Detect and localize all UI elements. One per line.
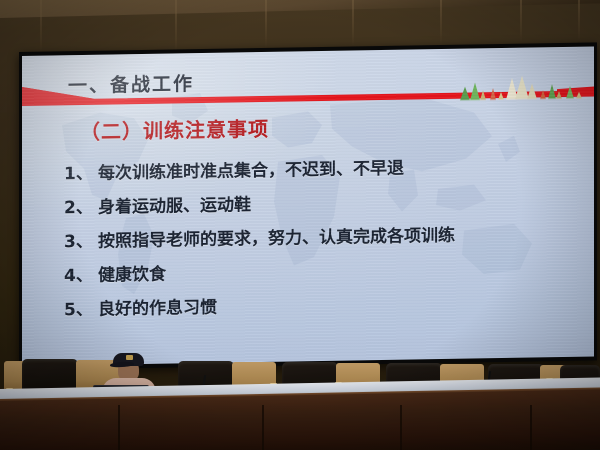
projection-screen-bezel: 一、备战工作 （二）训练注意事项 1、 每次训练准时准点集合，不迟到、不早退 2…: [19, 42, 597, 370]
pine-trees-graphic: [452, 73, 587, 103]
list-item: 3、 按照指导老师的要求，努力、认真完成各项训练: [64, 219, 584, 253]
list-item: 5、 良好的作息习惯: [64, 287, 584, 321]
slide-title: 一、备战工作: [68, 69, 194, 98]
wall-panel-seam: [352, 0, 354, 50]
wall-panel-seam: [40, 0, 42, 58]
bullet-text: 良好的作息习惯: [98, 293, 217, 320]
list-item: 4、 健康饮食: [64, 253, 584, 287]
desk-panel-seam: [262, 405, 264, 450]
desk-panel-seam: [400, 405, 402, 450]
bullet-number: 5、: [64, 295, 98, 321]
cap-logo: [126, 355, 133, 360]
wall-panel-seam: [440, 0, 442, 48]
desk-front-panel: [0, 389, 600, 450]
bullet-text: 健康饮食: [98, 260, 166, 286]
bullet-number: 1、: [64, 159, 98, 185]
bullet-text: 每次训练准时准点集合，不迟到、不早退: [98, 154, 404, 184]
bullet-number: 2、: [64, 193, 98, 219]
ceiling-trim: [0, 0, 600, 18]
wall-panel-seam: [578, 0, 580, 44]
projection-screen: 一、备战工作 （二）训练注意事项 1、 每次训练准时准点集合，不迟到、不早退 2…: [22, 46, 594, 365]
list-item: 2、 身着运动服、运动鞋: [64, 185, 584, 219]
wall-panel-seam: [520, 0, 522, 46]
desk-panel-seam: [118, 405, 120, 450]
slide-bullet-list: 1、 每次训练准时准点集合，不迟到、不早退 2、 身着运动服、运动鞋 3、 按照…: [64, 151, 584, 330]
slide-subtitle: （二）训练注意事项: [80, 113, 269, 145]
bullet-number: 3、: [64, 227, 98, 253]
desk-panel-seam: [530, 405, 532, 450]
conference-room-photo: 一、备战工作 （二）训练注意事项 1、 每次训练准时准点集合，不迟到、不早退 2…: [0, 0, 600, 450]
wall-panel-seam: [265, 0, 267, 52]
bullet-text: 身着运动服、运动鞋: [98, 190, 251, 218]
bullet-number: 4、: [64, 261, 98, 287]
conference-desk: [0, 355, 600, 450]
bullet-text: 按照指导老师的要求，努力、认真完成各项训练: [98, 221, 455, 252]
